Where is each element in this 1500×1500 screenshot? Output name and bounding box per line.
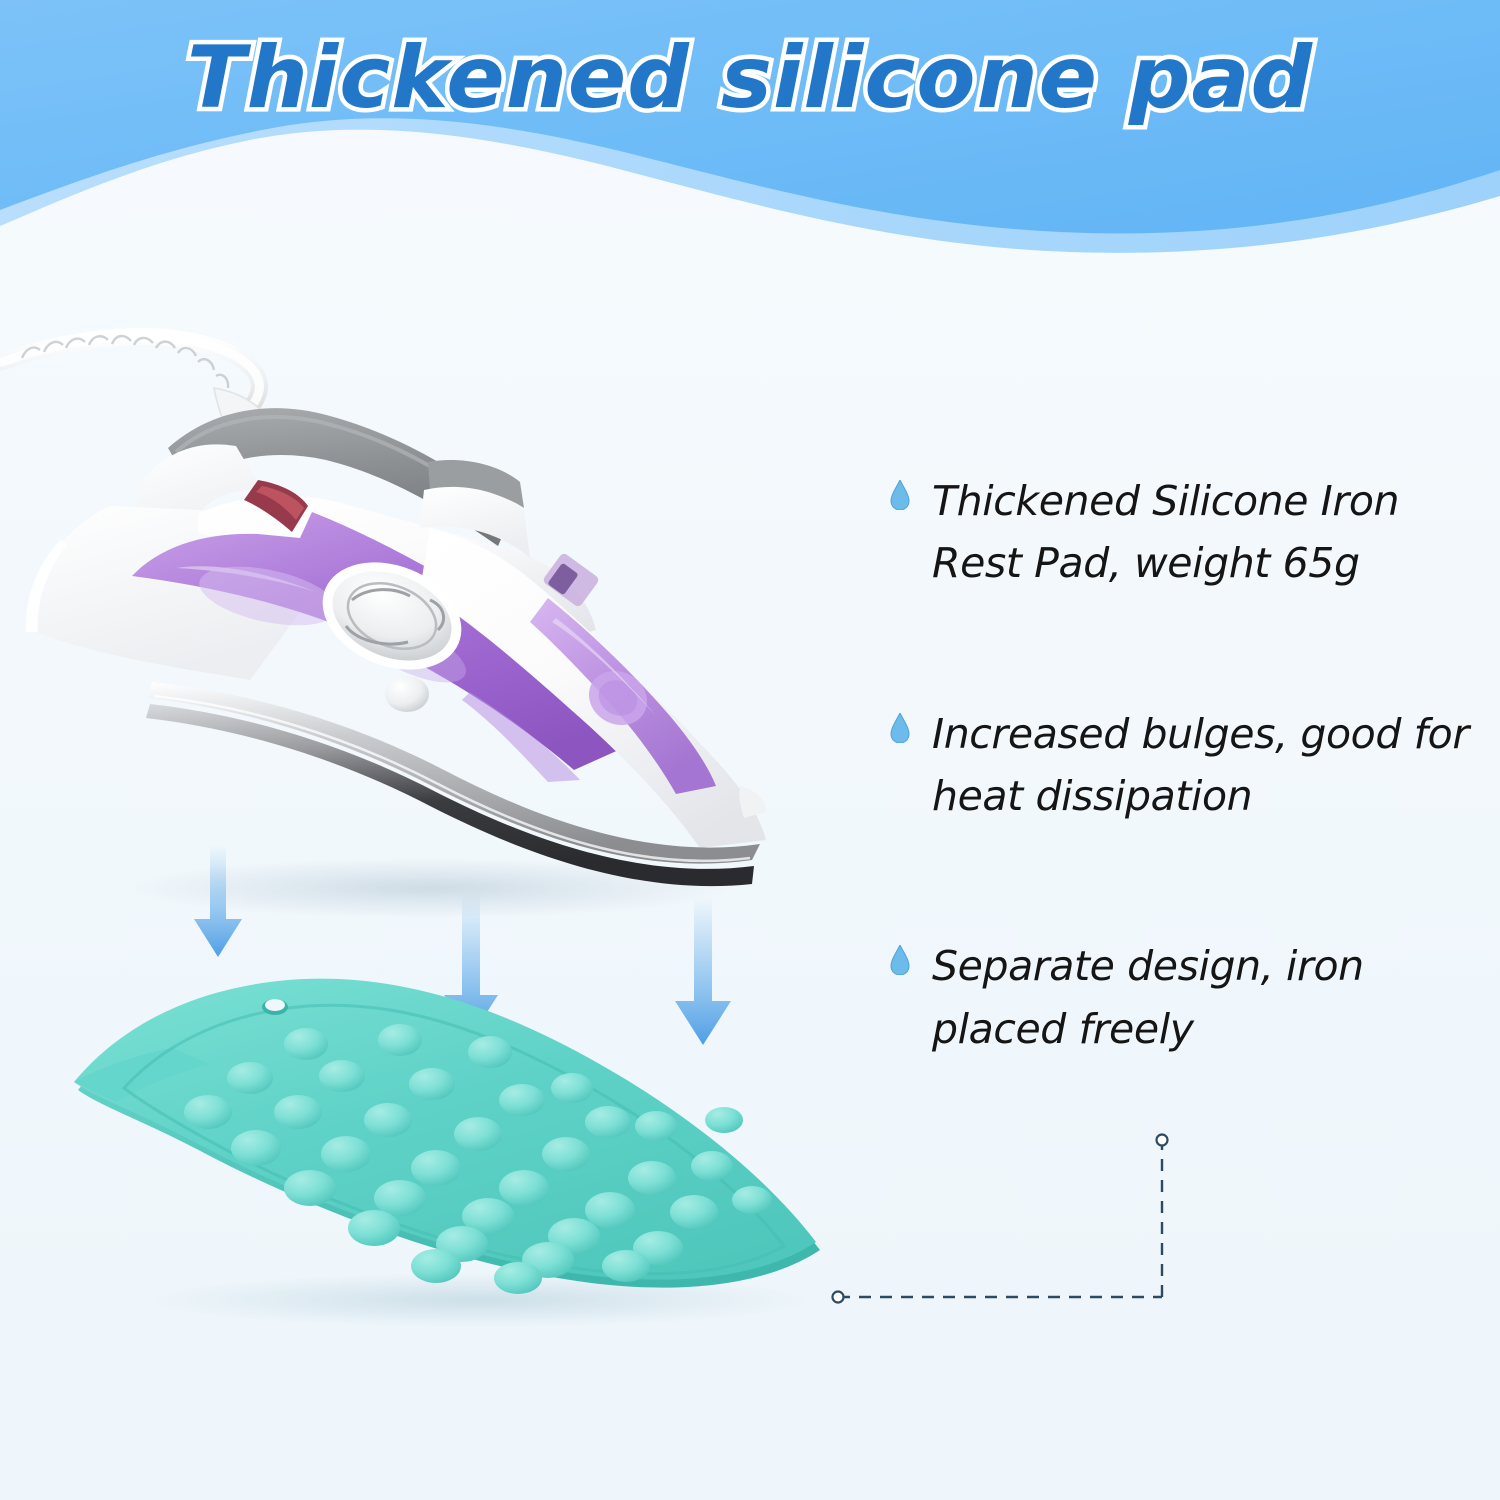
feature-item-2: Increased bulges, good for heat dissipat… (890, 703, 1490, 828)
feature-list: Thickened Silicone Iron Rest Pad, weight… (890, 470, 1490, 1060)
water-drop-icon (890, 945, 910, 975)
dim-endpoint-left (833, 1292, 844, 1303)
feature-item-1: Thickened Silicone Iron Rest Pad, weight… (890, 470, 1490, 595)
dimension-guide-lines (800, 1100, 1220, 1330)
arrow-down-1 (194, 845, 242, 957)
feature-text-3: Separate design, iron placed freely (932, 935, 1490, 1060)
water-drop-icon (890, 480, 910, 510)
feature-text-1: Thickened Silicone Iron Rest Pad, weight… (932, 470, 1490, 595)
pad-hanging-hole (262, 999, 288, 1015)
iron-nose-nub (739, 786, 766, 818)
feature-text-2: Increased bulges, good for heat dissipat… (932, 703, 1490, 828)
water-drop-icon (890, 713, 910, 743)
steam-iron-image (0, 300, 860, 940)
silicone-iron-rest-pad-image (60, 960, 900, 1340)
iron-spray-round-button (385, 676, 429, 712)
infographic-canvas: Thickened silicone pad (0, 0, 1500, 1500)
header-banner (0, 0, 1500, 262)
feature-item-3: Separate design, iron placed freely (890, 935, 1490, 1060)
dim-endpoint-top (1157, 1135, 1168, 1146)
